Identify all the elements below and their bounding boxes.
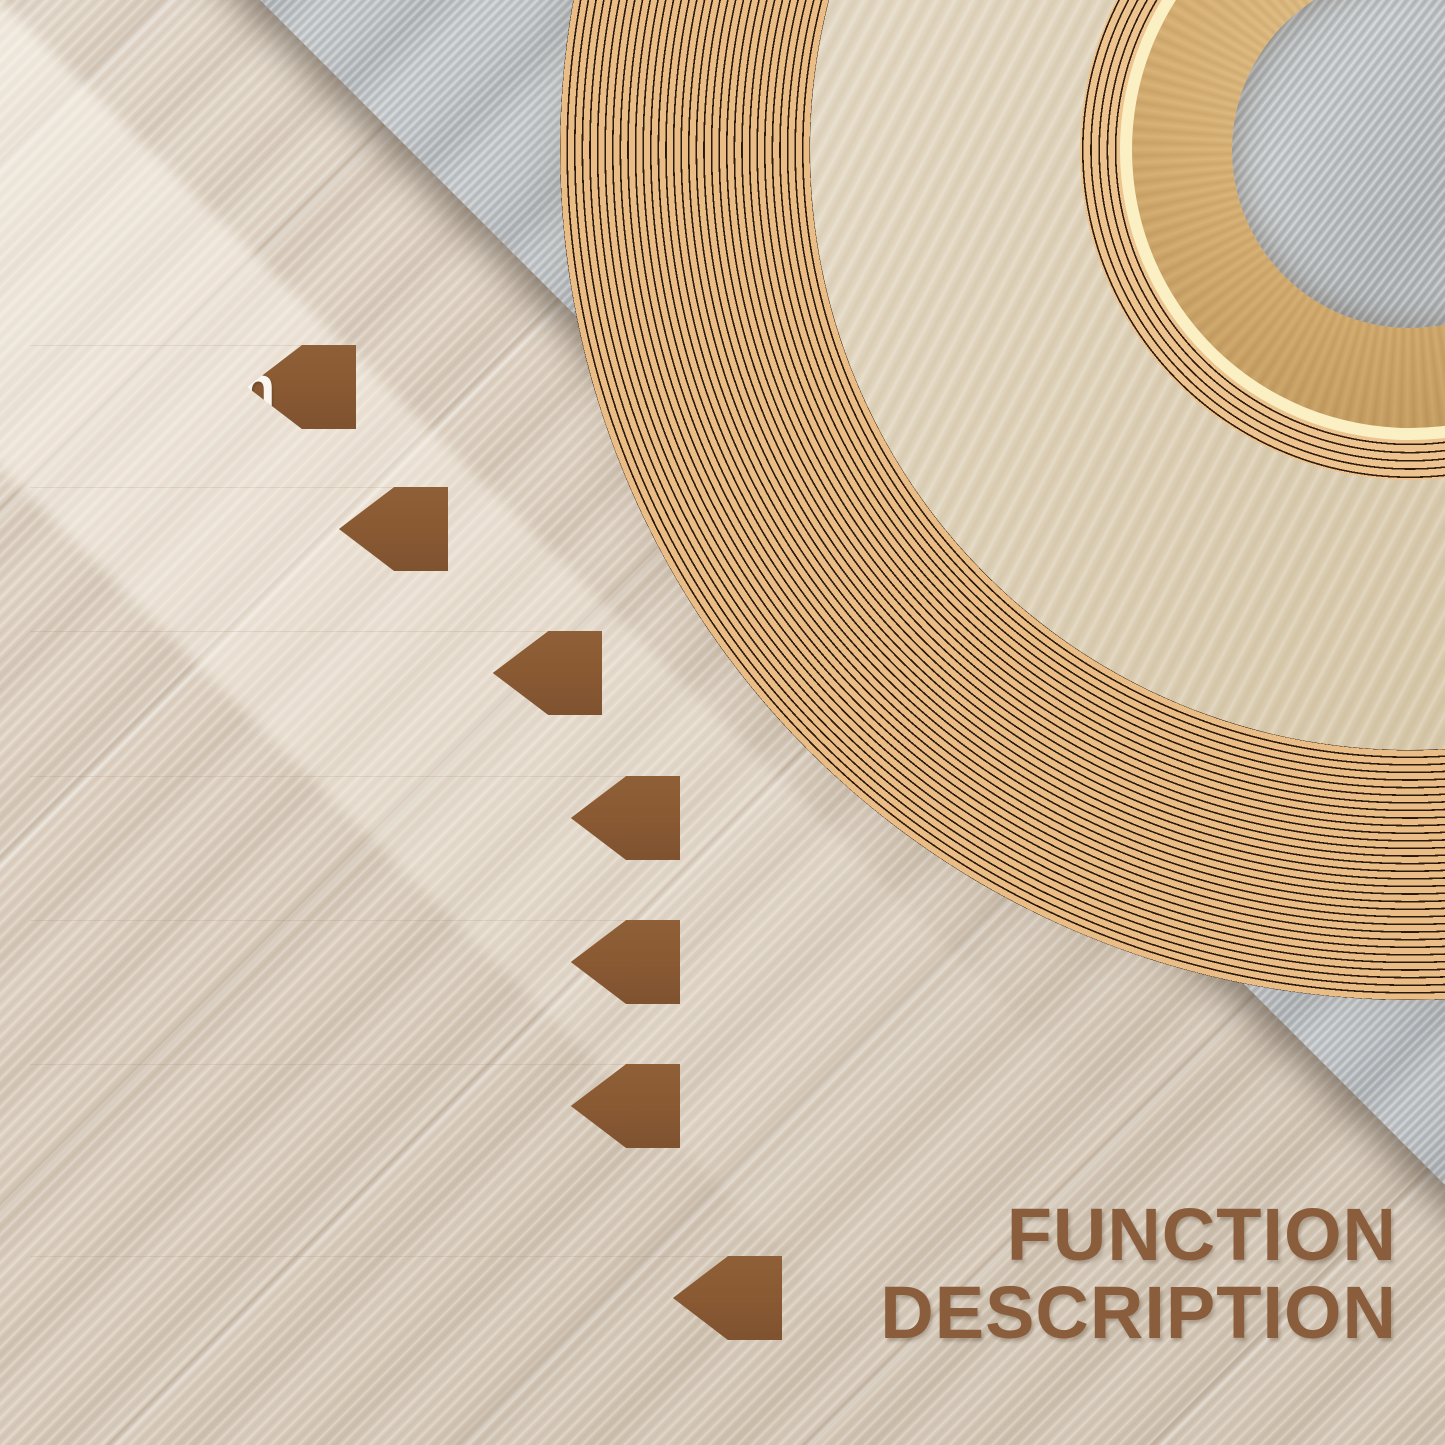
section-title-line-1: FUNCTION bbox=[880, 1196, 1397, 1274]
product-feature-infographic: Smooth Durable Beautiful Dust-proof Scra… bbox=[0, 0, 1445, 1445]
section-title: FUNCTION DESCRIPTION bbox=[880, 1196, 1397, 1353]
section-title-line-2: DESCRIPTION bbox=[880, 1274, 1397, 1352]
